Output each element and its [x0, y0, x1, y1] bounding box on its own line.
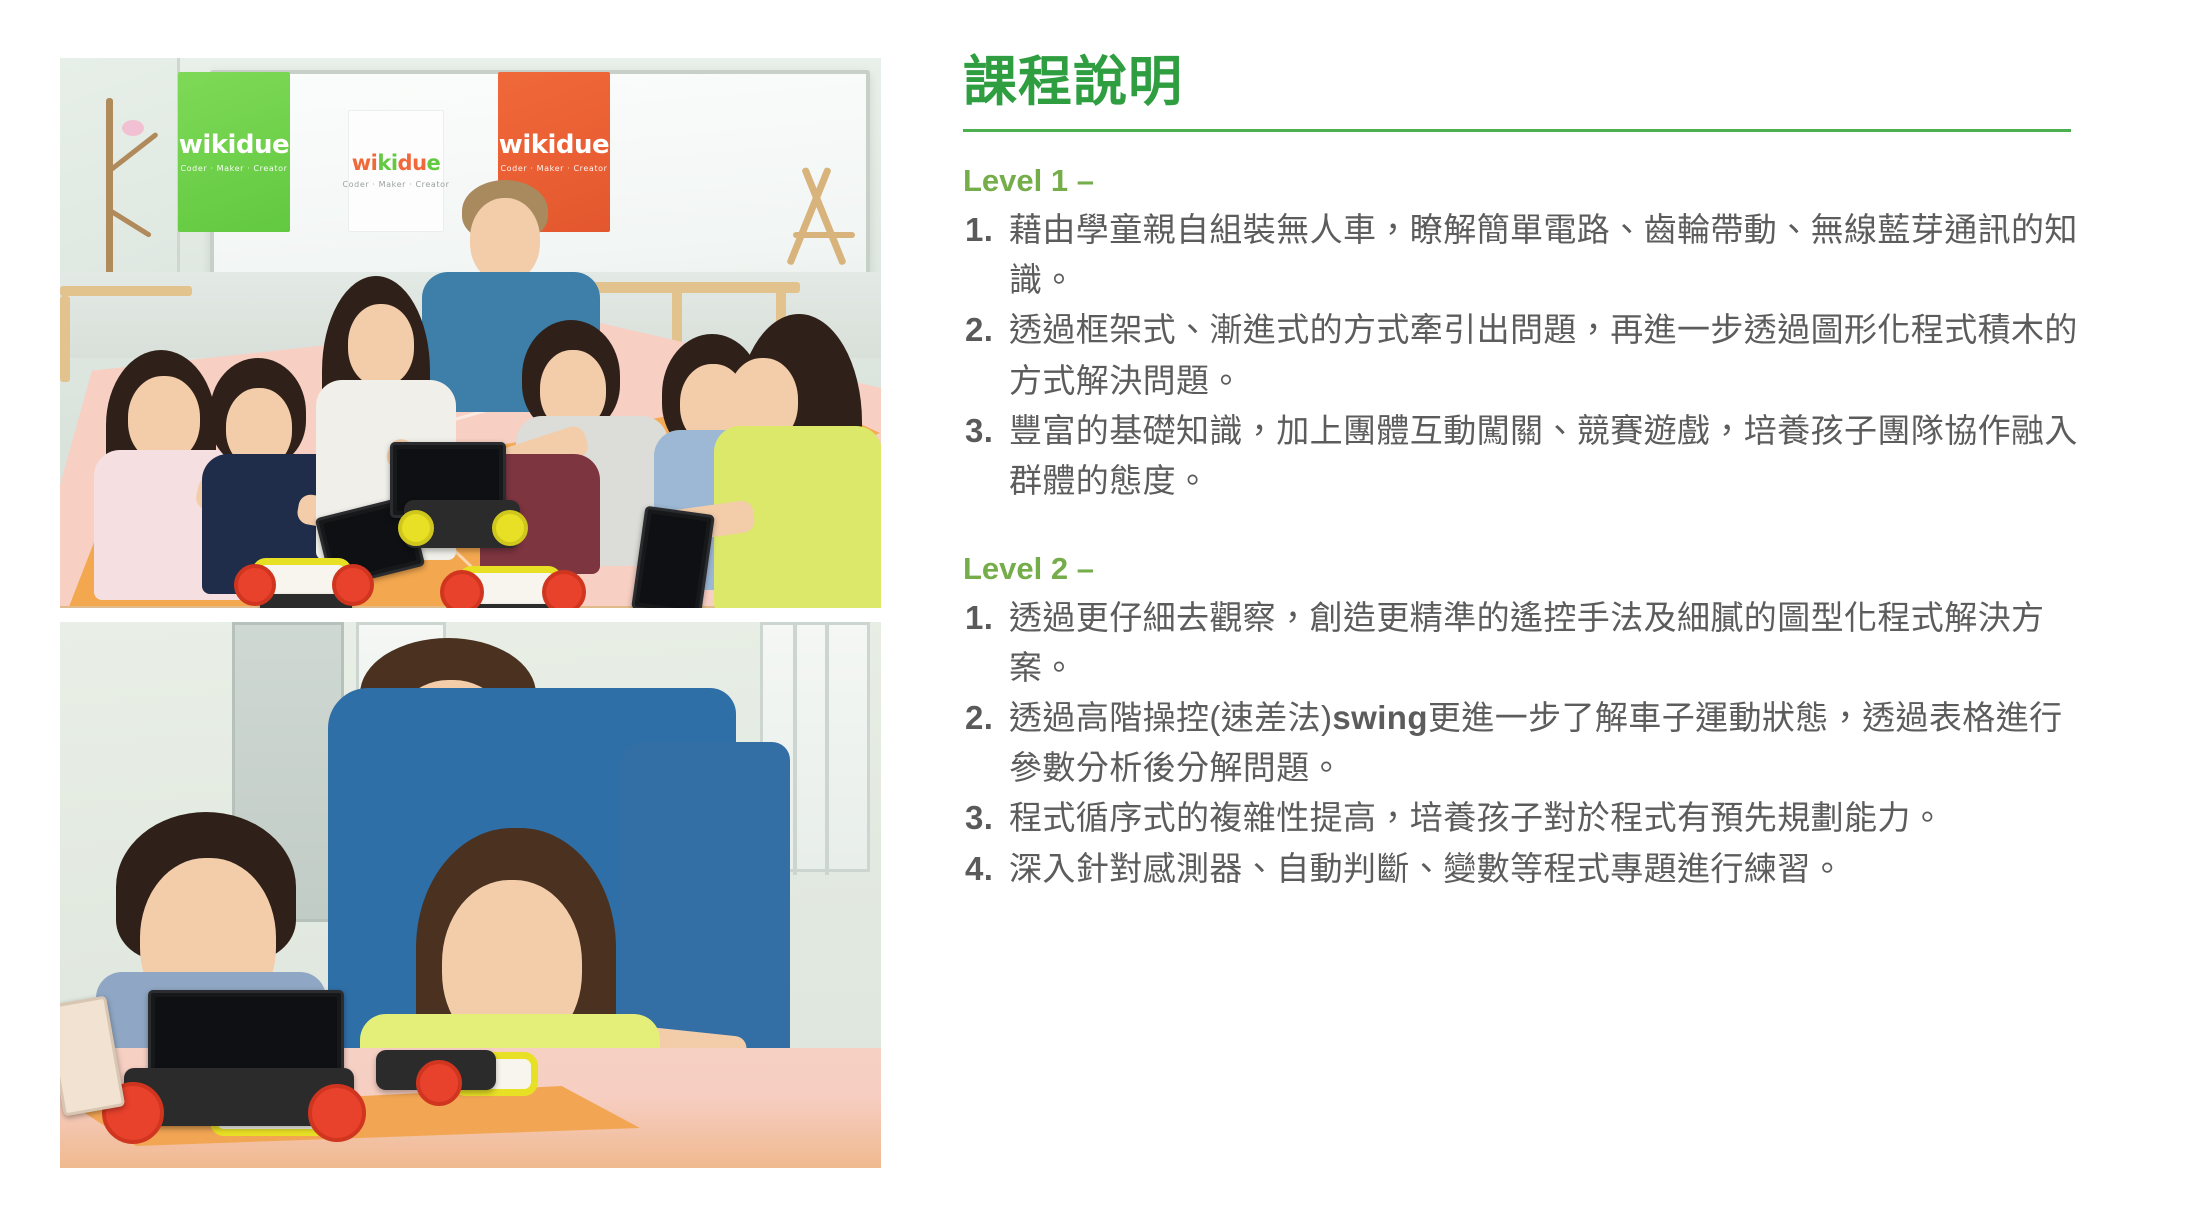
list-item-text: 深入針對感測器、自動判斷、變數等程式專題進行練習。 [1009, 850, 1844, 887]
list-item: 程式循序式的複雜性提高，培養孩子對於程式有預先規劃能力。 [963, 793, 2093, 843]
photo-column: wikidue Coder · Maker · Creator wikidue … [60, 58, 881, 1168]
wikidue-logo-tagline: Coder · Maker · Creator [500, 164, 607, 173]
list-item: 藉由學童親自組裝無人車，瞭解簡單電路、齒輪帶動、無線藍芽通訊的知識。 [963, 205, 2093, 305]
list-item: 透過更仔細去觀察，創造更精準的遙控手法及細膩的圖型化程式解決方案。 [963, 593, 2093, 693]
wood-furniture [60, 286, 192, 296]
list-item-text: 程式循序式的複雜性提高，培養孩子對於程式有預先規劃能力。 [1009, 799, 1944, 836]
list-item-text: 透過高階操控(速差法)swing更進一步了解車子運動狀態，透過表格進行參數分析後… [1009, 699, 2063, 786]
level-1-section: Level 1 – 藉由學童親自組裝無人車，瞭解簡單電路、齒輪帶動、無線藍芽通訊… [963, 162, 2093, 506]
course-description-panel: 課程說明 Level 1 – 藉由學童親自組裝無人車，瞭解簡單電路、齒輪帶動、無… [963, 52, 2093, 894]
level-1-heading: Level 1 – [963, 162, 2093, 201]
classroom-group-photo: wikidue Coder · Maker · Creator wikidue … [60, 58, 881, 608]
list-item: 深入針對感測器、自動判斷、變數等程式專題進行練習。 [963, 844, 2093, 894]
slide-root: wikidue Coder · Maker · Creator wikidue … [0, 0, 2189, 1226]
title-divider [963, 129, 2071, 132]
list-item-text: 藉由學童親自組裝無人車，瞭解簡單電路、齒輪帶動、無線藍芽通訊的知識。 [1009, 211, 2078, 298]
list-item-text: 豐富的基礎知識，加上團體互動闖關、競賽遊戲，培養孩子團隊協作融入群體的態度。 [1009, 412, 2078, 499]
teacher-two-children-photo [60, 622, 881, 1168]
tablet-device [631, 506, 715, 608]
wikidue-logo-text: wikidue [352, 153, 441, 174]
wikidue-logo-text: wikidue [179, 132, 289, 158]
wikidue-logo-tagline: Coder · Maker · Creator [342, 180, 449, 189]
wikidue-poster-green: wikidue Coder · Maker · Creator [178, 72, 290, 232]
wikidue-poster-white: wikidue Coder · Maker · Creator [348, 110, 444, 232]
level-1-list: 藉由學童親自組裝無人車，瞭解簡單電路、齒輪帶動、無線藍芽通訊的知識。 透過框架式… [963, 205, 2093, 506]
wooden-easel [763, 168, 873, 278]
list-item: 透過高階操控(速差法)swing更進一步了解車子運動狀態，透過表格進行參數分析後… [963, 693, 2093, 793]
wikidue-logo-text: wikidue [499, 132, 609, 158]
list-item: 透過框架式、漸進式的方式牽引出問題，再進一步透過圖形化程式積木的方式解決問題。 [963, 305, 2093, 405]
wikidue-logo-tagline: Coder · Maker · Creator [180, 164, 287, 173]
blossom-decal [122, 120, 144, 136]
level-2-list: 透過更仔細去觀察，創造更精準的遙控手法及細膩的圖型化程式解決方案。 透過高階操控… [963, 593, 2093, 894]
list-item-text: 透過更仔細去觀察，創造更精準的遙控手法及細膩的圖型化程式解決方案。 [1009, 599, 2044, 686]
page-title: 課程說明 [963, 52, 2093, 111]
list-item: 豐富的基礎知識，加上團體互動闖關、競賽遊戲，培養孩子團隊協作融入群體的態度。 [963, 406, 2093, 506]
list-item-text: 透過框架式、漸進式的方式牽引出問題，再進一步透過圖形化程式積木的方式解決問題。 [1009, 311, 2078, 398]
level-2-section: Level 2 – 透過更仔細去觀察，創造更精準的遙控手法及細膩的圖型化程式解決… [963, 550, 2093, 894]
level-2-heading: Level 2 – [963, 550, 2093, 589]
